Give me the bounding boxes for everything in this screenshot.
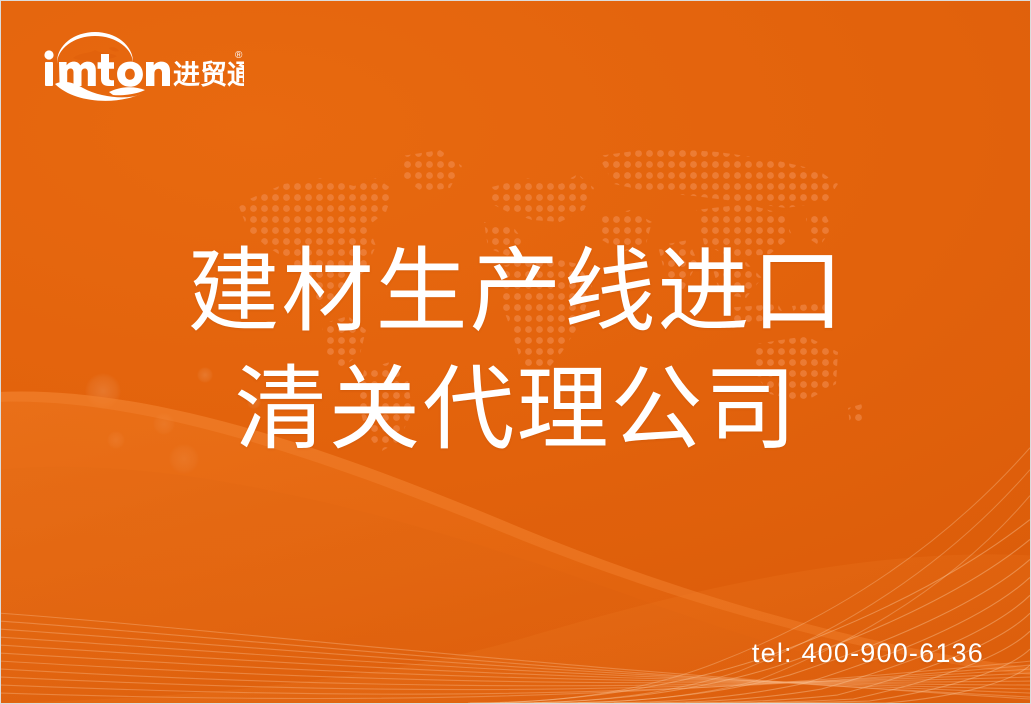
- headline-line-1: 建材生产线进口: [1, 233, 1031, 351]
- globe-dotted-icon: [57, 32, 133, 65]
- logo-wordmark-latin: [44, 50, 170, 86]
- page-title: 建材生产线进口 清关代理公司: [1, 233, 1031, 469]
- logo-wordmark-chinese: 进贸通: [173, 60, 244, 91]
- imton-logo[interactable]: 进贸通 ®: [39, 28, 244, 104]
- phone-number[interactable]: tel: 400-900-6136: [752, 638, 984, 669]
- registered-mark: ®: [235, 50, 243, 61]
- headline-line-2: 清关代理公司: [1, 351, 1031, 469]
- poster-canvas: 进贸通 ® 建材生产线进口 清关代理公司 tel: 400-900-6136: [0, 0, 1031, 704]
